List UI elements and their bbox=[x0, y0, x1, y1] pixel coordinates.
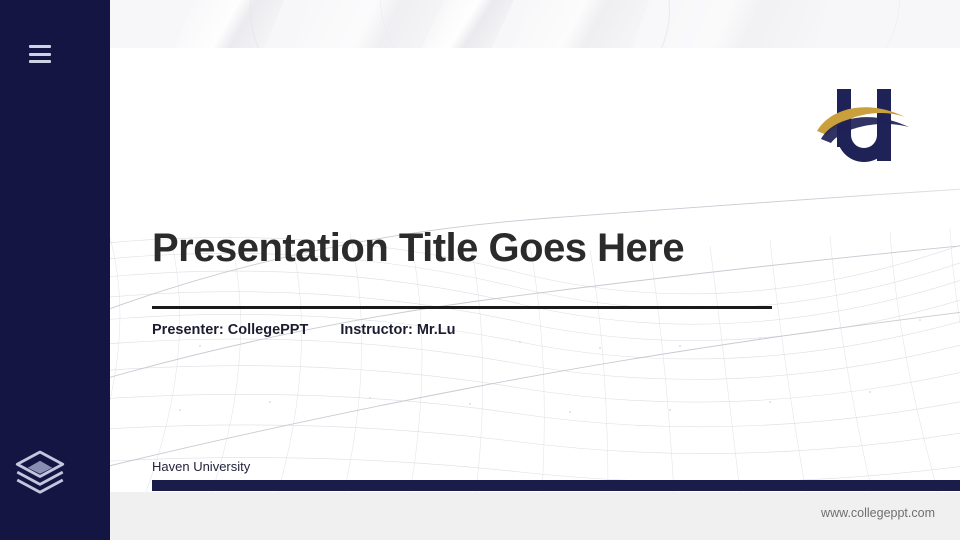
slide-bottom-bar bbox=[152, 480, 960, 491]
haven-university-logo bbox=[815, 83, 915, 168]
title-divider bbox=[152, 306, 772, 309]
organization-name: Haven University bbox=[152, 459, 250, 474]
hamburger-bar-2 bbox=[29, 53, 51, 56]
presentation-credits: Presenter: CollegePPT Instructor: Mr.Lu bbox=[152, 322, 456, 338]
hamburger-bar-3 bbox=[29, 60, 51, 63]
hamburger-icon[interactable] bbox=[29, 45, 51, 63]
slide-preview-window: Presentation Title Goes Here Presenter: … bbox=[0, 0, 960, 540]
website-footer: www.collegeppt.com bbox=[821, 506, 935, 520]
backdrop-top-band bbox=[0, 0, 960, 48]
backdrop-bottom-band bbox=[0, 492, 960, 540]
layers-stack-icon[interactable] bbox=[12, 445, 68, 501]
decorative-arc-2 bbox=[380, 0, 900, 48]
presenter-line: Presenter: CollegePPT bbox=[152, 322, 308, 338]
left-sidebar bbox=[0, 0, 110, 540]
presentation-slide[interactable]: Presentation Title Goes Here Presenter: … bbox=[80, 48, 960, 492]
page-title: Presentation Title Goes Here bbox=[152, 226, 892, 270]
instructor-line: Instructor: Mr.Lu bbox=[340, 322, 455, 338]
hamburger-bar-1 bbox=[29, 45, 51, 48]
